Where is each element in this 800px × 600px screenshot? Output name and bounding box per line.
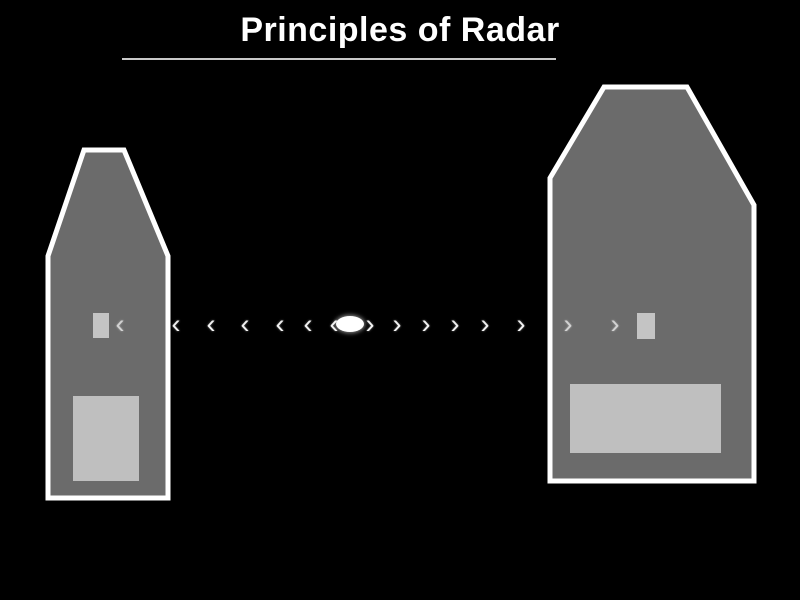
radar-pulse-ellipse [336, 316, 364, 332]
outbound-wave-chevron-icon-1: › [389, 306, 405, 342]
page-title: Principles of Radar [240, 8, 559, 52]
outbound-wave-chevron-icon-5: › [513, 306, 529, 342]
title-block: Principles of Radar [0, 8, 800, 52]
return-wave-chevron-icon-3: ‹ [237, 306, 253, 342]
return-wave-chevron-icon-4: ‹ [272, 306, 288, 342]
slide-canvas: Principles of Radar ‹‹‹‹‹‹‹›››››››› [0, 0, 800, 600]
outbound-wave-chevron-icon-4: › [477, 306, 493, 342]
return-wave-chevron-icon-1: ‹ [168, 306, 184, 342]
outbound-wave-chevron-icon-7: › [607, 306, 623, 342]
radar-platform-right [544, 81, 760, 487]
outbound-wave-chevron-icon-0: › [362, 306, 378, 342]
outbound-wave-chevron-icon-3: › [447, 306, 463, 342]
return-wave-chevron-icon-5: ‹ [300, 306, 316, 342]
panel-left [73, 396, 139, 481]
title-underline-rule [122, 58, 556, 60]
return-wave-chevron-icon-0: ‹ [112, 306, 128, 342]
outbound-wave-chevron-icon-2: › [418, 306, 434, 342]
return-wave-chevron-icon-2: ‹ [203, 306, 219, 342]
panel-right [570, 384, 721, 453]
radar-wave-row: ‹‹‹‹‹‹‹›››››››› [0, 306, 800, 342]
outbound-wave-chevron-icon-6: › [560, 306, 576, 342]
